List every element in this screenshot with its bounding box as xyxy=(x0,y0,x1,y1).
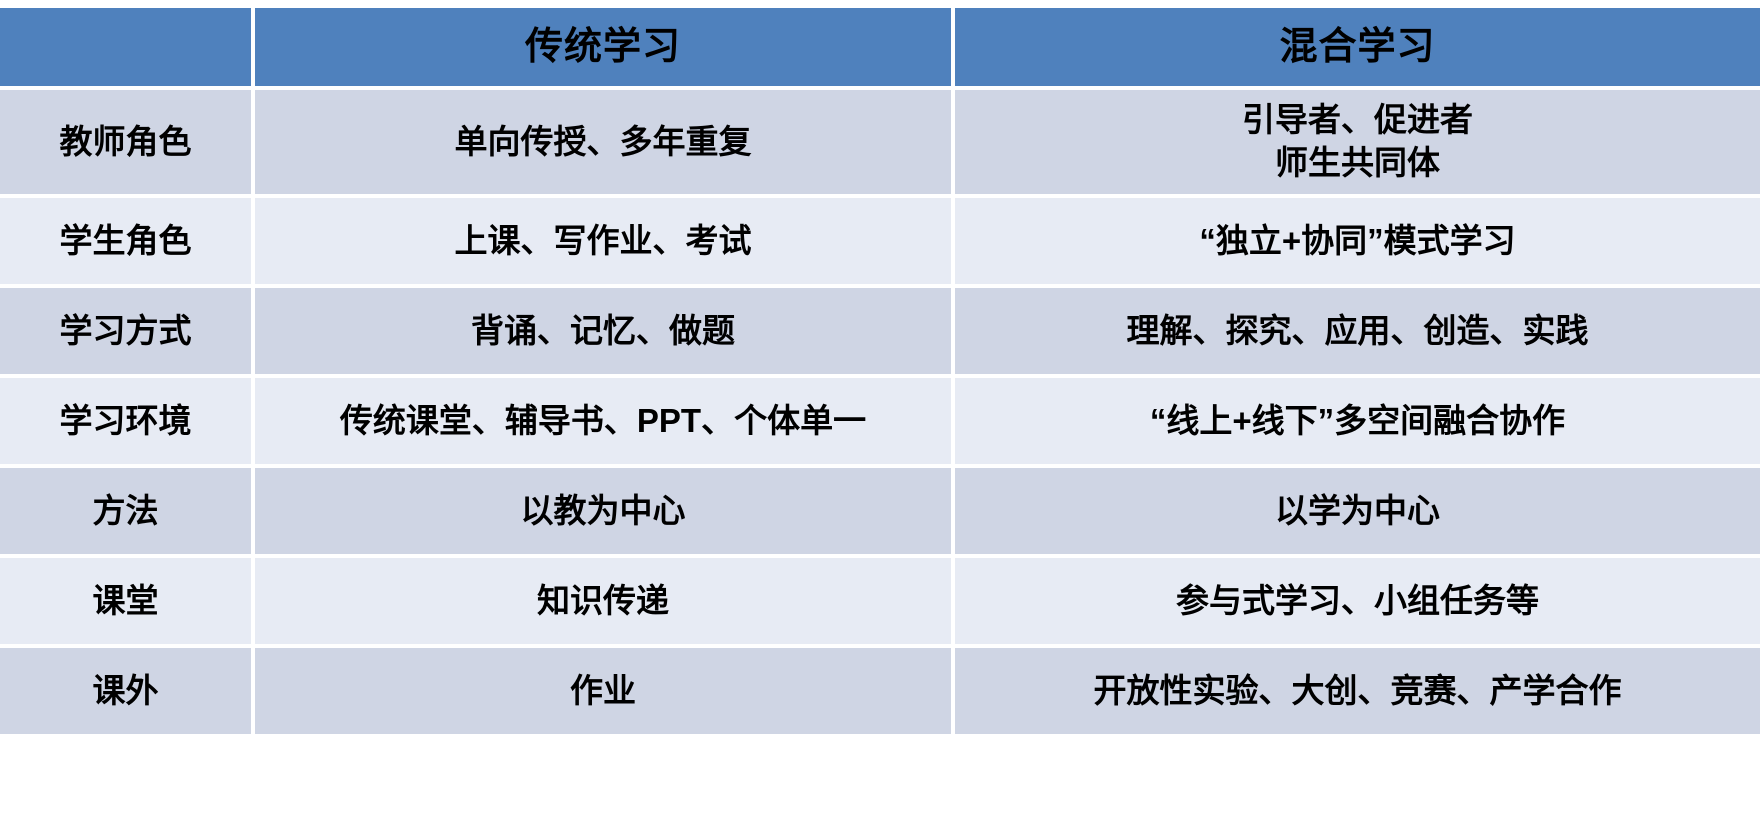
cell-blended: 开放性实验、大创、竞赛、产学合作 xyxy=(955,648,1760,734)
table-row: 学习环境 传统课堂、辅导书、PPT、个体单一 “线上+线下”多空间融合协作 xyxy=(0,378,1760,468)
table-header: 传统学习 混合学习 xyxy=(0,8,1760,90)
cell-blended: “线上+线下”多空间融合协作 xyxy=(955,378,1760,468)
cell-blended: 参与式学习、小组任务等 xyxy=(955,558,1760,648)
cell-blended: 理解、探究、应用、创造、实践 xyxy=(955,288,1760,378)
cell-blended: 引导者、促进者 师生共同体 xyxy=(955,90,1760,198)
row-label: 方法 xyxy=(0,468,255,558)
table-body: 教师角色 单向传授、多年重复 引导者、促进者 师生共同体 学生角色 上课、写作业… xyxy=(0,90,1760,734)
cell-traditional: 背诵、记忆、做题 xyxy=(255,288,955,378)
table-row: 教师角色 单向传授、多年重复 引导者、促进者 师生共同体 xyxy=(0,90,1760,198)
slide-canvas: 传统学习 混合学习 教师角色 单向传授、多年重复 引导者、促进者 师生共同体 学… xyxy=(0,0,1760,819)
row-label: 课外 xyxy=(0,648,255,734)
row-label: 学习方式 xyxy=(0,288,255,378)
cell-traditional: 知识传递 xyxy=(255,558,955,648)
row-label: 教师角色 xyxy=(0,90,255,198)
row-label: 学生角色 xyxy=(0,198,255,288)
comparison-table: 传统学习 混合学习 教师角色 单向传授、多年重复 引导者、促进者 师生共同体 学… xyxy=(0,8,1760,734)
header-row: 传统学习 混合学习 xyxy=(0,8,1760,90)
cell-traditional: 传统课堂、辅导书、PPT、个体单一 xyxy=(255,378,955,468)
cell-traditional: 单向传授、多年重复 xyxy=(255,90,955,198)
cell-blended: 以学为中心 xyxy=(955,468,1760,558)
header-traditional-learning: 传统学习 xyxy=(255,8,955,90)
table-row: 课堂 知识传递 参与式学习、小组任务等 xyxy=(0,558,1760,648)
table-row: 学习方式 背诵、记忆、做题 理解、探究、应用、创造、实践 xyxy=(0,288,1760,378)
cell-traditional: 上课、写作业、考试 xyxy=(255,198,955,288)
cell-traditional: 以教为中心 xyxy=(255,468,955,558)
header-corner-cell xyxy=(0,8,255,90)
header-blended-learning: 混合学习 xyxy=(955,8,1760,90)
row-label: 课堂 xyxy=(0,558,255,648)
row-label: 学习环境 xyxy=(0,378,255,468)
table-row: 方法 以教为中心 以学为中心 xyxy=(0,468,1760,558)
cell-blended: “独立+协同”模式学习 xyxy=(955,198,1760,288)
table-row: 学生角色 上课、写作业、考试 “独立+协同”模式学习 xyxy=(0,198,1760,288)
table-row: 课外 作业 开放性实验、大创、竞赛、产学合作 xyxy=(0,648,1760,734)
cell-traditional: 作业 xyxy=(255,648,955,734)
